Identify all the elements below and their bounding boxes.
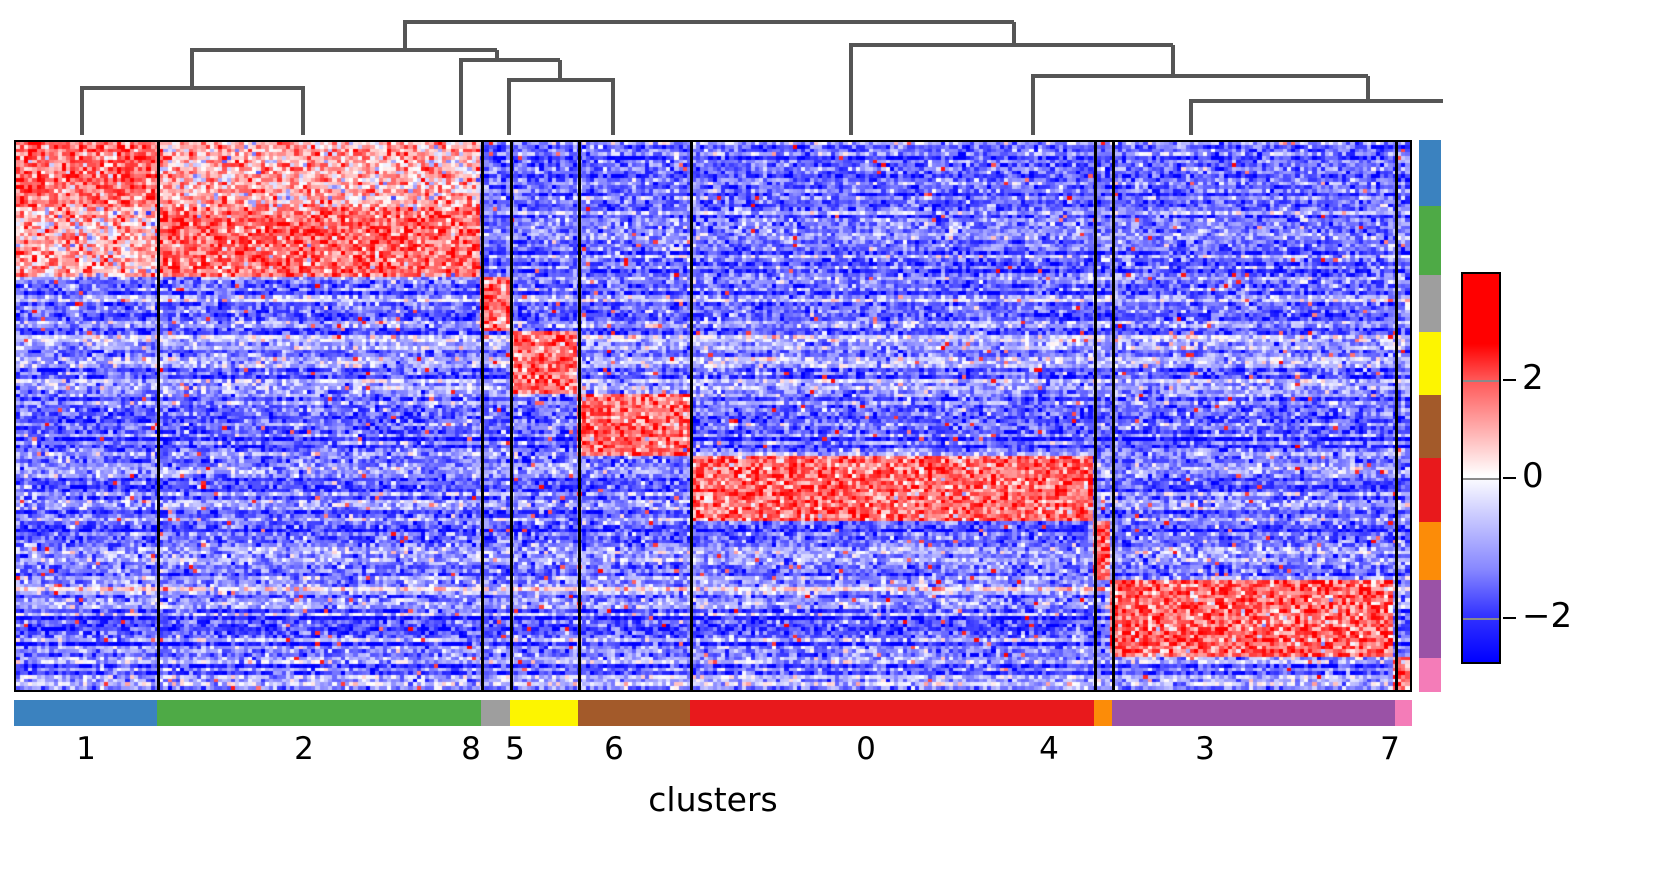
row-annotation-segment-6 bbox=[1419, 522, 1441, 580]
cluster-separator bbox=[1395, 142, 1398, 690]
cluster-tick-label-1: 1 bbox=[76, 732, 96, 766]
colorbar-tick-mark-2 bbox=[1503, 379, 1516, 381]
cluster-tick-label-8: 8 bbox=[461, 732, 481, 766]
row-annotation-segment-0 bbox=[1419, 140, 1441, 206]
row-annotation-segment-2 bbox=[1419, 275, 1441, 332]
colorbar-tick-mark-neg2 bbox=[1503, 617, 1516, 619]
row-annotation-segment-3 bbox=[1419, 332, 1441, 395]
x-axis-title: clusters bbox=[0, 780, 1426, 819]
cluster-tick-label-0: 0 bbox=[856, 732, 876, 766]
figure-canvas: 2 0 −2 128560437 clusters bbox=[0, 0, 1676, 888]
cluster-tick-label-2: 2 bbox=[294, 732, 314, 766]
colorbar-inner-tick-0 bbox=[1463, 478, 1499, 480]
cluster-color-segment-3 bbox=[1112, 700, 1395, 726]
row-annotation-segment-7 bbox=[1419, 580, 1441, 658]
cluster-color-bar bbox=[14, 700, 1412, 726]
row-annotation-segment-8 bbox=[1419, 658, 1441, 692]
cluster-color-segment-1 bbox=[14, 700, 157, 726]
row-annotation-segment-4 bbox=[1419, 395, 1441, 458]
cluster-color-segment-0 bbox=[690, 700, 1094, 726]
cluster-tick-label-5: 5 bbox=[505, 732, 525, 766]
cluster-tick-label-6: 6 bbox=[604, 732, 624, 766]
colorbar-label-2: 2 bbox=[1522, 361, 1544, 395]
cluster-separator bbox=[1094, 142, 1097, 690]
colorbar-gradient bbox=[1463, 274, 1499, 662]
cluster-separator bbox=[578, 142, 581, 690]
colorbar-label-0: 0 bbox=[1522, 459, 1544, 493]
colorbar-label-neg2: −2 bbox=[1522, 599, 1572, 633]
cluster-separator bbox=[1112, 142, 1115, 690]
colorbar-tick-mark-0 bbox=[1503, 477, 1516, 479]
heatmap-image bbox=[16, 142, 1410, 690]
cluster-tick-label-4: 4 bbox=[1039, 732, 1059, 766]
cluster-color-segment-7 bbox=[1395, 700, 1412, 726]
colorbar bbox=[1461, 272, 1501, 664]
row-annotation-segment-5 bbox=[1419, 458, 1441, 522]
row-annotation-segment-1 bbox=[1419, 206, 1441, 275]
cluster-color-segment-2 bbox=[157, 700, 481, 726]
cluster-separator bbox=[481, 142, 484, 690]
cluster-color-segment-4 bbox=[1094, 700, 1112, 726]
cluster-tick-label-3: 3 bbox=[1195, 732, 1215, 766]
cluster-color-segment-5 bbox=[510, 700, 578, 726]
cluster-color-segment-6 bbox=[578, 700, 690, 726]
cluster-separator bbox=[510, 142, 513, 690]
colorbar-inner-tick-2 bbox=[1463, 380, 1499, 382]
cluster-color-segment-8 bbox=[481, 700, 510, 726]
colorbar-inner-tick-neg2 bbox=[1463, 618, 1499, 620]
column-dendrogram bbox=[0, 0, 1460, 140]
cluster-tick-label-7: 7 bbox=[1380, 732, 1400, 766]
cluster-separator bbox=[157, 142, 160, 690]
row-cluster-annotation-bar bbox=[1419, 140, 1441, 692]
cluster-separator bbox=[690, 142, 693, 690]
heatmap-panel bbox=[14, 140, 1412, 692]
